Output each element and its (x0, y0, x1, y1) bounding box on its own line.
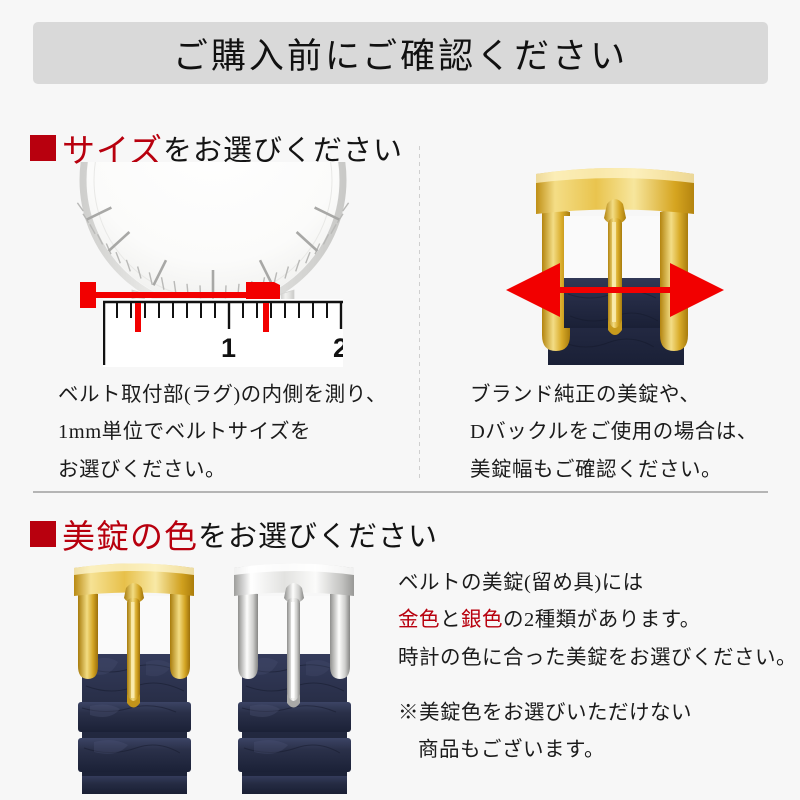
watch-lug-ruler-illustration: 1 2 (48, 162, 378, 367)
note-line: ※美錠色をお選びいただけない (398, 700, 692, 727)
text-line: 時計の色に合った美錠をお選びください。 (398, 645, 797, 672)
text-line: ベルトの美錠(留め具)には (398, 570, 797, 597)
text-line: ブランド純正の美錠や、 (470, 382, 758, 409)
product-info-page: ご購入前にご確認ください サイズ をお選びください (0, 0, 800, 800)
ruler-illustration: 1 2 (103, 299, 343, 367)
buckle-pair-svg (60, 562, 360, 794)
text-line-colors: 金色と銀色の2種類があります。 (398, 607, 797, 634)
tail-text: の2種類があります。 (503, 609, 701, 631)
page-title: ご購入前にご確認ください (173, 28, 628, 79)
note-line: 商品もございます。 (398, 737, 692, 764)
heading-rest: をお選びください (198, 513, 438, 555)
buckle-width-instruction-text: ブランド純正の美錠や、 Dバックルをご使用の場合は、 美錠幅もご確認ください。 (470, 382, 758, 484)
square-bullet-icon (30, 135, 56, 161)
conjunction: と (440, 609, 461, 631)
section-heading-buckle-color: 美錠の色 をお選びください (30, 510, 438, 558)
size-instruction-text: ベルト取付部(ラグ)の内側を測り、 1mm単位でベルトサイズを お選びください。 (58, 382, 387, 484)
silver-buckle-group (234, 564, 354, 795)
text-line: Dバックルをご使用の場合は、 (470, 419, 758, 446)
header-banner: ご購入前にご確認ください (33, 22, 768, 84)
heading-keyword: 美錠の色 (62, 510, 198, 558)
text-line: 1mm単位でベルトサイズを (58, 419, 387, 446)
ruler-svg: 1 2 (103, 299, 343, 367)
text-line: ベルト取付部(ラグ)の内側を測り、 (58, 382, 387, 409)
buckle-color-note: ※美錠色をお選びいただけない 商品もございます。 (398, 700, 692, 765)
ruler-label-1: 1 (221, 333, 236, 363)
text-line: お選びください。 (58, 457, 387, 484)
gold-label: 金色 (398, 609, 440, 631)
column-divider (419, 146, 420, 478)
buckle-color-text: ベルトの美錠(留め具)には 金色と銀色の2種類があります。 時計の色に合った美錠… (398, 570, 797, 672)
ruler-label-2: 2 (333, 333, 343, 363)
silver-label: 銀色 (461, 609, 503, 631)
gold-buckle-width-photo (470, 160, 760, 365)
gold-buckle-svg (470, 160, 760, 365)
section-divider (33, 491, 768, 493)
gold-buckle-group (74, 564, 194, 795)
text-line: 美錠幅もご確認ください。 (470, 457, 758, 484)
square-bullet-icon (30, 521, 56, 547)
gold-and-silver-buckle-photo (60, 562, 360, 794)
